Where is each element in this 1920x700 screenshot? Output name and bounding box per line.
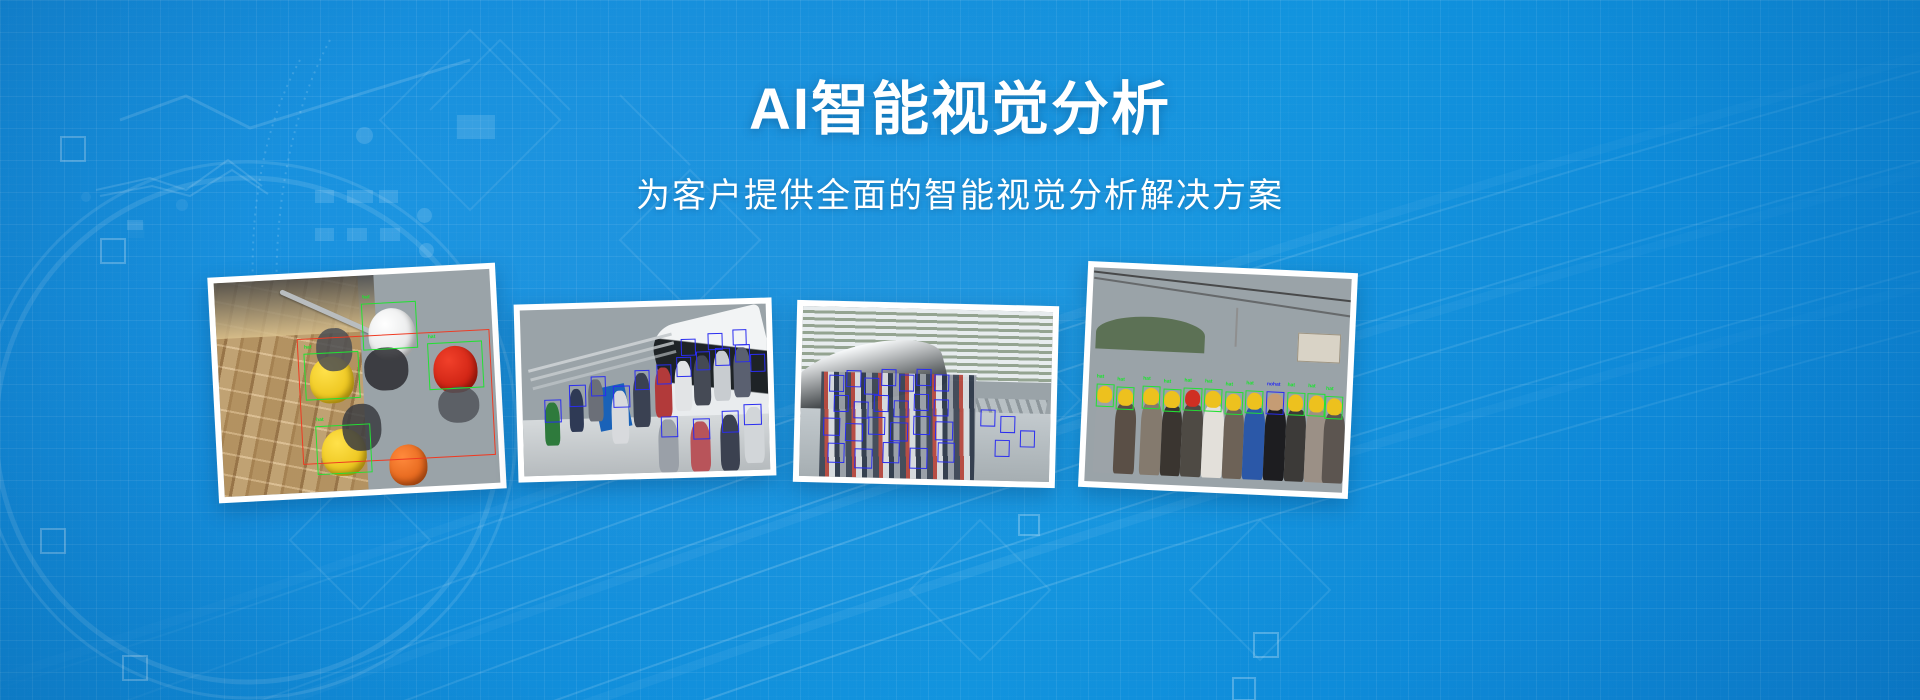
detection-label-hat: hat	[1287, 383, 1295, 388]
power-line	[1094, 270, 1352, 304]
detection-box-hat	[1325, 396, 1344, 420]
detection-box-face	[676, 357, 691, 377]
detection-box-face	[696, 352, 711, 371]
detection-box-face	[590, 376, 605, 396]
detection-box-face	[937, 442, 955, 463]
decor-square-filled	[347, 228, 367, 241]
detection-box-face	[863, 377, 878, 394]
hero-text-block: AI智能视觉分析 为客户提供全面的智能视觉分析解决方案	[0, 78, 1920, 217]
handrail	[528, 333, 672, 373]
detection-box-face	[854, 448, 872, 469]
photo-bridge-face-detection	[520, 304, 771, 477]
worker-body	[1201, 405, 1225, 479]
detection-box-face	[909, 448, 927, 469]
detection-box-face	[867, 416, 885, 435]
detection-box-face	[715, 348, 730, 367]
detection-box-face	[994, 440, 1009, 457]
detection-box-face	[1000, 416, 1015, 433]
decor-square-filled	[127, 220, 143, 230]
decor-square-outline	[1232, 677, 1256, 700]
gallery-card-station-crowd[interactable]	[793, 300, 1059, 488]
detection-box-hat	[427, 340, 485, 390]
page-title: AI智能视觉分析	[0, 78, 1920, 142]
worker-body	[1322, 413, 1346, 484]
decor-square-filled	[315, 228, 334, 241]
gallery-card-warehouse[interactable]: hat hat hat hat	[207, 263, 506, 504]
detection-box-hat	[1116, 386, 1135, 410]
detection-box-hat	[1204, 388, 1223, 412]
gallery-card-bridge-crowd[interactable]	[514, 297, 777, 482]
hero-banner: AI智能视觉分析 为客户提供全面的智能视觉分析解决方案	[0, 0, 1920, 700]
detection-box-hat	[1142, 385, 1161, 409]
detection-label-hat: hat	[1246, 381, 1254, 386]
detection-box-face	[569, 385, 587, 407]
detection-box-face	[707, 333, 722, 350]
worker-body-nohat	[1263, 408, 1287, 482]
detection-box-face	[853, 401, 868, 418]
detection-box-face	[822, 417, 840, 436]
detection-box-hat	[315, 423, 373, 475]
page-subtitle: 为客户提供全面的智能视觉分析解决方案	[0, 168, 1920, 217]
detection-box-face	[613, 385, 631, 407]
detection-box-face	[657, 364, 672, 384]
detection-box-face	[732, 329, 747, 346]
detection-box-face	[935, 421, 953, 440]
decor-circle	[419, 243, 434, 258]
detection-box-hat	[1183, 387, 1202, 411]
decor-square-outline	[40, 528, 66, 554]
detection-box-hat	[1224, 391, 1243, 415]
detection-box-face	[722, 411, 740, 433]
photo-warehouse-helmet-detection: hat hat hat hat	[214, 269, 501, 497]
detection-box-face	[933, 399, 948, 416]
detection-label-hat: hat	[316, 418, 324, 423]
detection-box-hat	[303, 351, 361, 401]
detection-box-face	[934, 374, 949, 391]
worker-body	[1113, 403, 1137, 474]
detection-box-hat	[1245, 390, 1264, 414]
detection-box-face	[750, 353, 765, 372]
detection-box-face	[913, 394, 928, 411]
decor-square-outline	[122, 655, 148, 681]
photo-site-hat-detection: hat hat hat hat hat hat hat hat nohat ha…	[1084, 267, 1351, 492]
detection-label-hat: hat	[1184, 378, 1192, 383]
detection-label-hat: hat	[362, 296, 370, 301]
detection-box-hat	[1307, 393, 1326, 417]
detection-box-face	[827, 443, 845, 464]
detection-box-face	[833, 395, 848, 412]
detection-label-hat: hat	[1097, 374, 1105, 379]
detection-label-hat: hat	[1225, 382, 1233, 387]
detection-label-hat: hat	[1164, 380, 1172, 385]
detection-label-hat: hat	[1308, 384, 1316, 389]
decor-square-outline	[1253, 632, 1279, 658]
gallery-card-site-workers[interactable]: hat hat hat hat hat hat hat hat nohat ha…	[1078, 261, 1358, 499]
shelf-top	[214, 275, 377, 339]
detection-box-face	[980, 409, 995, 426]
detection-label-hat: hat	[1205, 379, 1213, 384]
hillside	[1095, 315, 1205, 354]
detection-box-face	[846, 370, 861, 387]
power-line	[1094, 276, 1352, 320]
detection-box-face	[899, 375, 914, 392]
detection-box-face	[693, 418, 711, 440]
detection-box-face	[735, 344, 750, 363]
photo-station-crowd-detection	[799, 306, 1053, 482]
detection-label-hat: hat	[1143, 377, 1151, 382]
detection-box-face	[1020, 430, 1035, 447]
site-shed	[1297, 332, 1342, 364]
detection-box-face	[881, 369, 896, 386]
detection-box-hat	[1095, 383, 1114, 407]
detection-box-face	[913, 416, 931, 435]
detection-box-face	[893, 400, 908, 417]
photo-gallery: hat hat hat hat	[0, 258, 1920, 518]
decor-square-filled	[128, 222, 144, 238]
detection-box-face	[680, 339, 695, 356]
detection-box-nohat	[1266, 391, 1285, 415]
detection-box-face	[845, 423, 863, 442]
detection-box-face	[744, 403, 762, 425]
decor-square-filled	[380, 228, 400, 241]
detection-box-hat	[1162, 388, 1181, 412]
detection-label-hat: hat	[428, 335, 436, 340]
utility-pole	[1235, 308, 1239, 347]
detection-box-face	[916, 368, 931, 385]
detection-box-face	[635, 370, 650, 390]
detection-label-hat: hat	[304, 346, 312, 351]
detection-label-nohat: nohat	[1267, 382, 1281, 388]
detection-box-hat	[1286, 392, 1305, 416]
detection-box-face	[882, 442, 900, 463]
detection-box-face	[829, 375, 844, 392]
detection-label-hat: hat	[1117, 378, 1125, 383]
detection-box-face	[873, 394, 888, 411]
detection-box-face	[890, 422, 908, 441]
detection-label-hat: hat	[1326, 387, 1334, 392]
detection-box-hat	[361, 301, 419, 351]
detection-box-face	[660, 416, 678, 438]
detection-box-face	[544, 399, 562, 423]
